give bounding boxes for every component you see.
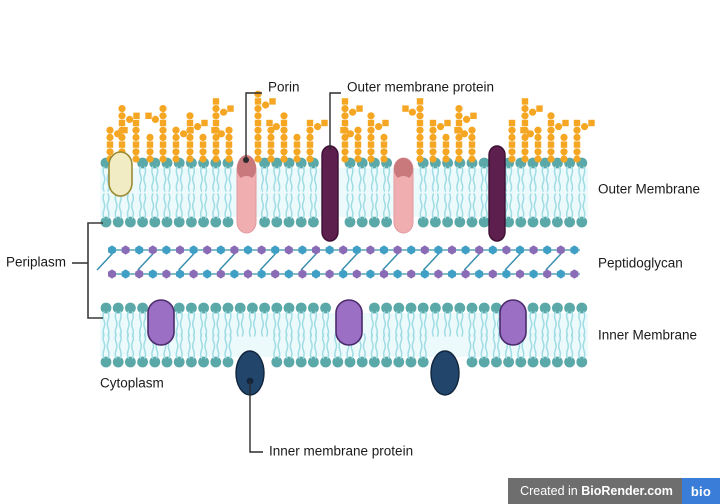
label-periplasm: Periplasm <box>6 255 66 270</box>
biorender-watermark: Created in BioRender.com bio <box>508 478 720 504</box>
periplasm-bracket <box>88 223 103 318</box>
watermark-prefix: Created in <box>520 484 581 498</box>
diagram-canvas: Porin Outer membrane protein Outer Membr… <box>0 0 720 504</box>
label-porin: Porin <box>268 80 300 95</box>
inner-membrane-protein-purple-1[interactable] <box>148 300 174 345</box>
lipoprotein-oval <box>109 152 132 196</box>
lps-sugar-chains <box>106 91 594 163</box>
inner-membrane-protein-purple-2[interactable] <box>336 300 362 345</box>
porin-leader-dot <box>243 157 249 163</box>
label-inner-membrane: Inner Membrane <box>598 328 697 343</box>
label-peptidoglycan: Peptidoglycan <box>598 256 683 271</box>
porin-2[interactable] <box>394 158 413 233</box>
omp-leader-line <box>330 93 341 150</box>
watermark-text: Created in BioRender.com <box>520 484 673 498</box>
outer-membrane <box>100 158 588 228</box>
porin-1[interactable] <box>237 155 256 233</box>
label-outer-membrane: Outer Membrane <box>598 182 700 197</box>
peptidoglycan-layer <box>97 245 580 278</box>
outer-membrane-protein-1[interactable] <box>322 146 338 241</box>
cell-envelope-diagram: Porin Outer membrane protein Outer Membr… <box>0 0 720 504</box>
outer-membrane-protein-2[interactable] <box>489 146 505 241</box>
label-cytoplasm: Cytoplasm <box>100 376 164 391</box>
watermark-brand: BioRender.com <box>581 484 673 498</box>
watermark-badge: bio <box>682 478 720 504</box>
inner-membrane-protein-navy-2[interactable] <box>431 351 459 395</box>
inner-membrane-protein-purple-3[interactable] <box>500 300 526 345</box>
label-outer-membrane-protein: Outer membrane protein <box>347 80 494 95</box>
label-inner-membrane-protein: Inner membrane protein <box>269 444 413 459</box>
